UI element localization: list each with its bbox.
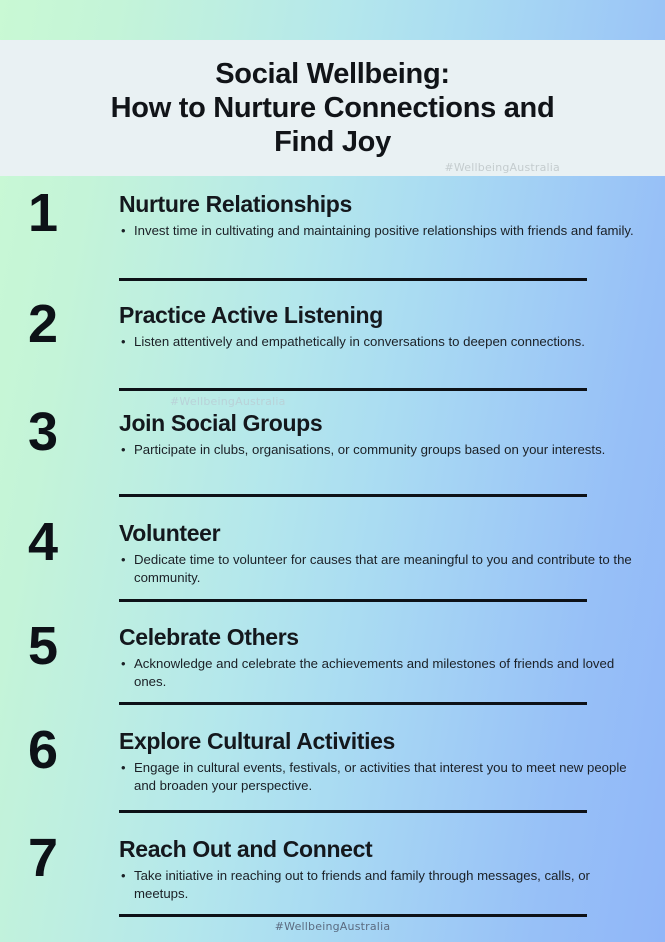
item-number: 1 (28, 186, 98, 240)
item-divider (119, 702, 587, 705)
item-body: Practice Active ListeningListen attentiv… (119, 302, 639, 351)
item-divider (119, 388, 587, 391)
item-bullet-list: Participate in clubs, organisations, or … (119, 441, 639, 459)
item-bullet: Engage in cultural events, festivals, or… (119, 759, 639, 795)
item-bullet: Invest time in cultivating and maintaini… (119, 222, 639, 240)
item-bullet: Participate in clubs, organisations, or … (119, 441, 639, 459)
item-number: 6 (28, 723, 98, 777)
item-bullet: Dedicate time to volunteer for causes th… (119, 551, 639, 587)
item-heading: Join Social Groups (119, 410, 639, 436)
infographic-poster: Social Wellbeing: How to Nurture Connect… (0, 0, 665, 942)
item-number: 2 (28, 297, 98, 351)
page-title: Social Wellbeing: How to Nurture Connect… (0, 40, 665, 160)
item-heading: Volunteer (119, 520, 639, 546)
page-title-line-2: How to Nurture Connections and (30, 92, 635, 126)
item-heading: Practice Active Listening (119, 302, 639, 328)
item-number: 4 (28, 515, 98, 569)
page-title-line-3: Find Joy (30, 126, 635, 160)
item-bullet: Acknowledge and celebrate the achievemen… (119, 655, 639, 691)
item-divider (119, 914, 587, 917)
page-title-line-1: Social Wellbeing: (30, 58, 635, 92)
item-heading: Celebrate Others (119, 624, 639, 650)
item-body: Reach Out and ConnectTake initiative in … (119, 836, 639, 903)
item-bullet-list: Invest time in cultivating and maintaini… (119, 222, 639, 240)
item-bullet-list: Engage in cultural events, festivals, or… (119, 759, 639, 795)
item-body: Join Social GroupsParticipate in clubs, … (119, 410, 639, 459)
item-number: 5 (28, 619, 98, 673)
item-bullet-list: Dedicate time to volunteer for causes th… (119, 551, 639, 587)
item-bullet: Listen attentively and empathetically in… (119, 333, 639, 351)
item-number: 7 (28, 831, 98, 885)
item-bullet-list: Acknowledge and celebrate the achievemen… (119, 655, 639, 691)
item-heading: Reach Out and Connect (119, 836, 639, 862)
item-bullet: Take initiative in reaching out to frien… (119, 867, 639, 903)
title-band: Social Wellbeing: How to Nurture Connect… (0, 40, 665, 176)
item-bullet-list: Take initiative in reaching out to frien… (119, 867, 639, 903)
item-number: 3 (28, 405, 98, 459)
item-heading: Nurture Relationships (119, 191, 639, 217)
item-heading: Explore Cultural Activities (119, 728, 639, 754)
item-divider (119, 810, 587, 813)
watermark-mid: #WellbeingAustralia (170, 395, 286, 408)
item-body: VolunteerDedicate time to volunteer for … (119, 520, 639, 587)
item-divider (119, 494, 587, 497)
item-bullet-list: Listen attentively and empathetically in… (119, 333, 639, 351)
watermark-footer: #WellbeingAustralia (0, 920, 665, 933)
item-divider (119, 278, 587, 281)
item-divider (119, 599, 587, 602)
item-body: Nurture RelationshipsInvest time in cult… (119, 191, 639, 240)
item-body: Explore Cultural ActivitiesEngage in cul… (119, 728, 639, 795)
item-body: Celebrate OthersAcknowledge and celebrat… (119, 624, 639, 691)
